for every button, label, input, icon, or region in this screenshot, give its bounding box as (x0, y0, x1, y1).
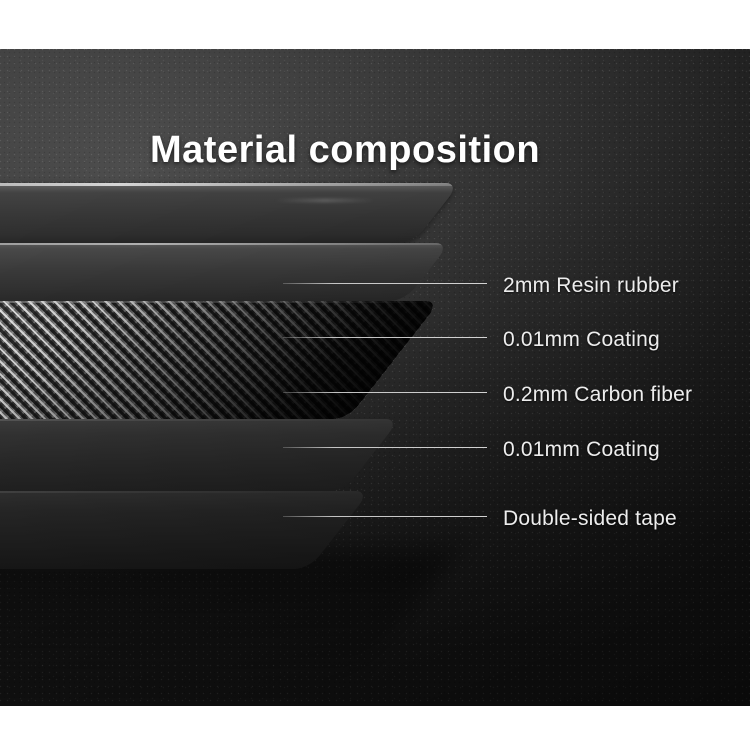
layer-coating-top (0, 243, 450, 301)
layer-double-sided-tape-highlight (0, 491, 370, 493)
carbon-fiber-lighting (0, 301, 440, 419)
product-infographic: Material composition 2mm Resin rubber 0.… (0, 0, 750, 750)
page-title: Material composition (150, 129, 540, 172)
callout-line-coating-bottom (283, 447, 487, 448)
callout-label-resin-rubber: 2mm Resin rubber (503, 274, 679, 298)
callout-label-carbon-fiber: 0.2mm Carbon fiber (503, 383, 692, 407)
layer-coating-bottom-highlight (0, 419, 400, 421)
callout-label-coating-bottom: 0.01mm Coating (503, 438, 660, 462)
title-sheen-decoration (275, 199, 375, 202)
layer-carbon-fiber-highlight (0, 301, 440, 303)
layer-resin-rubber-highlight (0, 183, 460, 186)
callout-label-double-sided-tape: Double-sided tape (503, 507, 677, 531)
callout-line-resin-rubber (283, 283, 487, 284)
layer-double-sided-tape (0, 491, 370, 569)
layer-resin-rubber (0, 183, 460, 243)
callout-line-double-sided-tape (283, 516, 487, 517)
callout-label-coating-top: 0.01mm Coating (503, 328, 660, 352)
stack-drop-shadow (0, 549, 460, 699)
layer-carbon-fiber (0, 301, 440, 419)
layer-coating-bottom (0, 419, 400, 491)
layer-coating-top-highlight (0, 243, 450, 245)
callout-line-carbon-fiber (283, 392, 487, 393)
material-stack-photo: Material composition 2mm Resin rubber 0.… (0, 49, 750, 706)
callout-line-coating-top (283, 337, 487, 338)
